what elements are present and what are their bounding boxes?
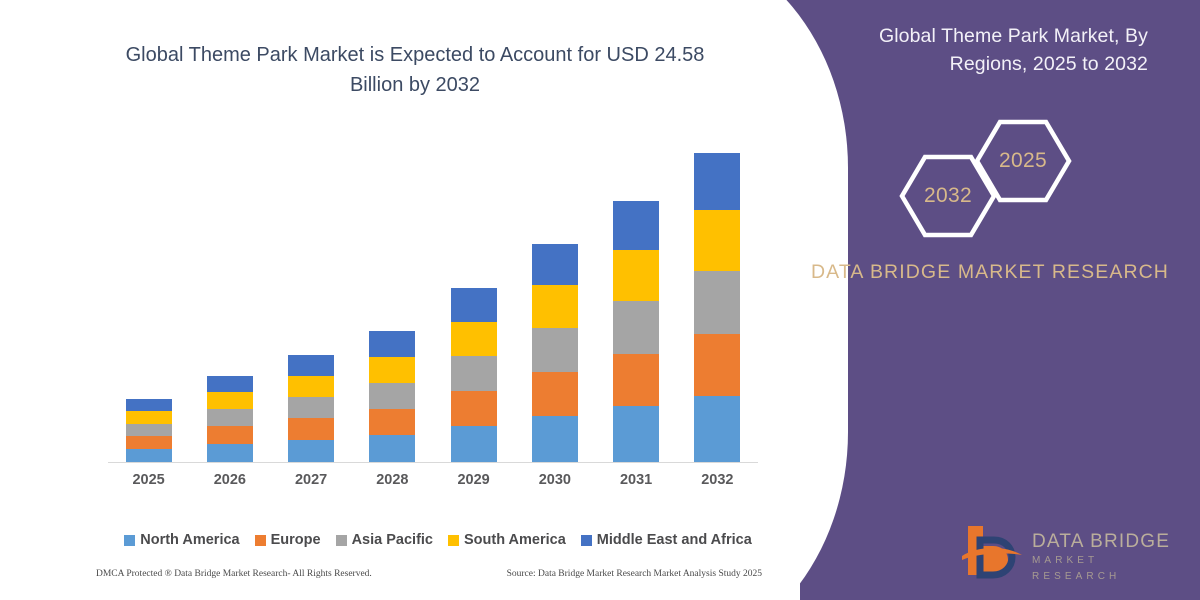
bar-segment-2028-europe[interactable] — [369, 409, 415, 435]
bar-segment-2029-north-america[interactable] — [451, 426, 497, 462]
x-axis-label-2029: 2029 — [434, 472, 514, 488]
bar-group-2029[interactable] — [451, 288, 497, 462]
bar-segment-2029-middle-east-and-africa[interactable] — [451, 288, 497, 322]
bar-segment-2032-middle-east-and-africa[interactable] — [694, 153, 740, 210]
chart-legend: North AmericaEuropeAsia PacificSouth Ame… — [108, 528, 768, 552]
bar-group-2030[interactable] — [532, 244, 578, 462]
x-axis-label-2028: 2028 — [352, 472, 432, 488]
logo-text-line1: DATA BRIDGE — [1032, 531, 1190, 553]
x-axis-label-2030: 2030 — [515, 472, 595, 488]
footer-source: Source: Data Bridge Market Research Mark… — [507, 569, 766, 579]
x-axis-label-2027: 2027 — [271, 472, 351, 488]
x-axis-label-2031: 2031 — [596, 472, 676, 488]
legend-swatch-europe — [255, 535, 266, 546]
bar-segment-2027-north-america[interactable] — [288, 440, 334, 462]
bar-segment-2028-north-america[interactable] — [369, 435, 415, 462]
bar-group-2027[interactable] — [288, 355, 334, 462]
bar-segment-2032-europe[interactable] — [694, 334, 740, 396]
x-axis-label-2032: 2032 — [677, 472, 757, 488]
bar-segment-2030-north-america[interactable] — [532, 416, 578, 462]
legend-item-europe[interactable]: Europe — [255, 532, 321, 548]
legend-item-asia-pacific[interactable]: Asia Pacific — [336, 532, 433, 548]
footer-dmca: DMCA Protected ® Data Bridge Market Rese… — [96, 569, 372, 579]
legend-item-middle-east-and-africa[interactable]: Middle East and Africa — [581, 532, 752, 548]
bar-segment-2031-north-america[interactable] — [613, 406, 659, 462]
hexagon-2032-label: 2032 — [924, 184, 972, 208]
stacked-bar-chart — [108, 120, 758, 463]
bar-segment-2027-south-america[interactable] — [288, 376, 334, 397]
bar-segment-2032-south-america[interactable] — [694, 210, 740, 271]
bar-segment-2031-south-america[interactable] — [613, 250, 659, 301]
bar-segment-2030-middle-east-and-africa[interactable] — [532, 244, 578, 285]
bar-segment-2026-middle-east-and-africa[interactable] — [207, 376, 253, 392]
bar-group-2025[interactable] — [126, 399, 172, 462]
bar-segment-2025-middle-east-and-africa[interactable] — [126, 399, 172, 411]
logo-text-line2: MARKET RESEARCH — [1032, 553, 1190, 585]
legend-label-south-america: South America — [464, 532, 566, 548]
company-logo: DATA BRIDGE MARKET RESEARCH — [960, 520, 1190, 582]
bar-segment-2025-europe[interactable] — [126, 436, 172, 449]
bar-group-2028[interactable] — [369, 331, 415, 462]
brand-panel: Global Theme Park Market, By Regions, 20… — [780, 0, 1200, 600]
x-axis-label-2026: 2026 — [190, 472, 270, 488]
bar-segment-2030-europe[interactable] — [532, 372, 578, 415]
bar-segment-2030-south-america[interactable] — [532, 285, 578, 328]
panel-title: Global Theme Park Market, By Regions, 20… — [808, 22, 1148, 78]
bar-segment-2028-middle-east-and-africa[interactable] — [369, 331, 415, 357]
infographic-page: Global Theme Park Market is Expected to … — [0, 0, 1200, 600]
bar-segment-2031-asia-pacific[interactable] — [613, 301, 659, 354]
bar-group-2026[interactable] — [207, 376, 253, 462]
legend-swatch-north-america — [124, 535, 135, 546]
chart-title: Global Theme Park Market is Expected to … — [100, 40, 730, 100]
legend-swatch-middle-east-and-africa — [581, 535, 592, 546]
bar-segment-2029-europe[interactable] — [451, 391, 497, 425]
legend-label-europe: Europe — [271, 532, 321, 548]
bar-segment-2026-north-america[interactable] — [207, 444, 253, 462]
bar-group-2031[interactable] — [613, 201, 659, 462]
bar-segment-2029-asia-pacific[interactable] — [451, 356, 497, 391]
bar-segment-2029-south-america[interactable] — [451, 322, 497, 357]
legend-swatch-south-america — [448, 535, 459, 546]
legend-item-south-america[interactable]: South America — [448, 532, 566, 548]
bar-segment-2028-asia-pacific[interactable] — [369, 383, 415, 410]
x-axis-label-2025: 2025 — [109, 472, 189, 488]
bar-segment-2027-asia-pacific[interactable] — [288, 397, 334, 418]
brand-name: DATA BRIDGE MARKET RESEARCH — [800, 258, 1180, 286]
legend-label-asia-pacific: Asia Pacific — [352, 532, 433, 548]
bar-segment-2025-north-america[interactable] — [126, 449, 172, 462]
legend-label-middle-east-and-africa: Middle East and Africa — [597, 532, 752, 548]
footer: DMCA Protected ® Data Bridge Market Rese… — [96, 569, 766, 579]
bar-segment-2026-europe[interactable] — [207, 426, 253, 444]
x-axis-line — [108, 462, 758, 463]
bar-group-2032[interactable] — [694, 153, 740, 462]
bar-segment-2026-south-america[interactable] — [207, 392, 253, 409]
bar-segment-2026-asia-pacific[interactable] — [207, 409, 253, 426]
bar-segment-2031-middle-east-and-africa[interactable] — [613, 201, 659, 250]
bar-segment-2032-asia-pacific[interactable] — [694, 271, 740, 334]
x-axis-labels: 20252026202720282029203020312032 — [108, 472, 758, 496]
bar-segment-2032-north-america[interactable] — [694, 396, 740, 462]
hexagon-2025-label: 2025 — [999, 149, 1047, 173]
hexagon-badge-2025: 2025 — [973, 117, 1073, 205]
legend-swatch-asia-pacific — [336, 535, 347, 546]
logo-b-monogram-icon — [960, 522, 1026, 585]
bar-segment-2027-middle-east-and-africa[interactable] — [288, 355, 334, 376]
bar-segment-2031-europe[interactable] — [613, 354, 659, 406]
bar-segment-2027-europe[interactable] — [288, 418, 334, 440]
legend-item-north-america[interactable]: North America — [124, 532, 239, 548]
bar-segment-2028-south-america[interactable] — [369, 357, 415, 383]
bar-segment-2025-south-america[interactable] — [126, 411, 172, 423]
bar-segment-2025-asia-pacific[interactable] — [126, 424, 172, 436]
legend-label-north-america: North America — [140, 532, 239, 548]
bar-segment-2030-asia-pacific[interactable] — [532, 328, 578, 372]
